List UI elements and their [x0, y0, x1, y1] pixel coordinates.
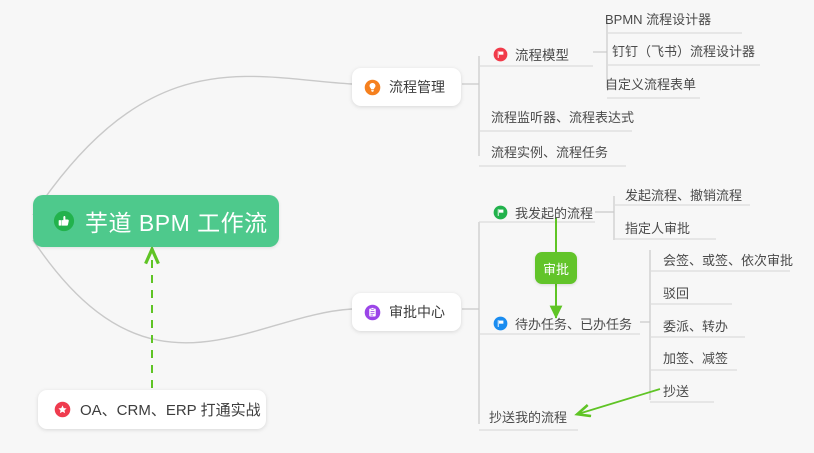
group-process-model-label: 流程模型: [515, 44, 569, 64]
center-node[interactable]: 芋道 BPM 工作流: [33, 195, 279, 247]
lightbulb-circle-icon: [364, 79, 381, 96]
group-my-initiated[interactable]: 我发起的流程: [493, 203, 593, 222]
group-my-initiated-label: 我发起的流程: [515, 203, 593, 222]
approval-flow-badge-label: 审批: [543, 259, 569, 278]
leaf-add-remove-sign[interactable]: 加签、减签: [663, 352, 728, 365]
leaf-start-cancel-process[interactable]: 发起流程、撤销流程: [625, 189, 742, 202]
flag-circle-icon-green: [493, 205, 508, 220]
thumbs-up-circle-icon: [53, 210, 75, 232]
connector-center-to-approval-center: [33, 240, 352, 343]
leaf-delegate-transfer[interactable]: 委派、转办: [663, 320, 728, 333]
footer-card-oa-crm-erp[interactable]: OA、CRM、ERP 打通实战: [38, 390, 266, 429]
leaf-cc[interactable]: 抄送: [663, 385, 689, 398]
leaf-process-listener-expression[interactable]: 流程监听器、流程表达式: [491, 111, 634, 124]
leaf-process-instance-task[interactable]: 流程实例、流程任务: [491, 146, 608, 159]
leaf-cc-to-me-process[interactable]: 抄送我的流程: [489, 411, 567, 424]
branch-approval-center[interactable]: 审批中心: [352, 293, 461, 331]
star-circle-icon: [54, 401, 71, 418]
annotation-arrow-cc: [578, 389, 660, 414]
approval-flow-badge: 审批: [535, 252, 577, 284]
branch-process-management[interactable]: 流程管理: [352, 68, 461, 106]
clipboard-circle-icon: [364, 304, 381, 321]
flag-circle-icon-blue: [493, 316, 508, 331]
flag-circle-icon-red: [493, 47, 508, 62]
footer-card-label: OA、CRM、ERP 打通实战: [80, 399, 261, 420]
group-todo-done-tasks[interactable]: 待办任务、已办任务: [493, 314, 632, 333]
branch-approval-center-label: 审批中心: [389, 302, 445, 322]
leaf-reject[interactable]: 驳回: [663, 287, 689, 300]
leaf-assignee-approval[interactable]: 指定人审批: [625, 222, 690, 235]
mindmap-canvas: 芋道 BPM 工作流 流程管理 流程模型 BPMN 流程设计器 钉钉（飞书）流程…: [0, 0, 814, 453]
leaf-bpmn-designer[interactable]: BPMN 流程设计器: [605, 13, 711, 26]
leaf-custom-process-form[interactable]: 自定义流程表单: [605, 78, 696, 91]
branch-process-management-label: 流程管理: [389, 77, 445, 97]
leaf-dingtalk-feishu-designer[interactable]: 钉钉（飞书）流程设计器: [612, 45, 755, 58]
group-process-model[interactable]: 流程模型: [493, 44, 569, 64]
center-node-label: 芋道 BPM 工作流: [85, 204, 268, 238]
leaf-countersign-orsign-sequential[interactable]: 会签、或签、依次审批: [663, 254, 793, 267]
group-todo-done-tasks-label: 待办任务、已办任务: [515, 314, 632, 333]
